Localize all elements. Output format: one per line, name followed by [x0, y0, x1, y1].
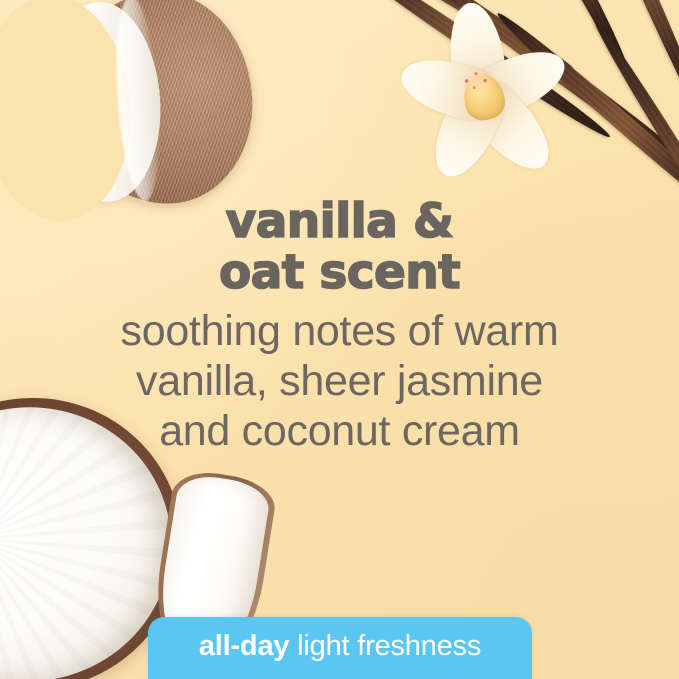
subcopy: soothing notes of warm vanilla, sheer ja… — [0, 306, 679, 456]
headline: vanilla & oat scent — [0, 196, 679, 298]
product-scene: vanilla & oat scent soothing notes of wa… — [0, 0, 679, 679]
vanilla-flower-icon — [398, 18, 568, 178]
coconut-crescent-image — [59, 0, 259, 210]
banner-regular-text: light freshness — [289, 630, 481, 662]
freshness-banner: all-day light freshness — [148, 617, 532, 679]
subcopy-line-3: and coconut cream — [0, 406, 679, 456]
subcopy-line-1: soothing notes of warm — [0, 306, 679, 356]
headline-line-2: oat scent — [0, 247, 679, 298]
headline-line-1: vanilla & — [0, 196, 679, 247]
banner-text: all-day light freshness — [199, 631, 481, 665]
subcopy-line-2: vanilla, sheer jasmine — [0, 356, 679, 406]
banner-bold-text: all-day — [199, 630, 289, 662]
